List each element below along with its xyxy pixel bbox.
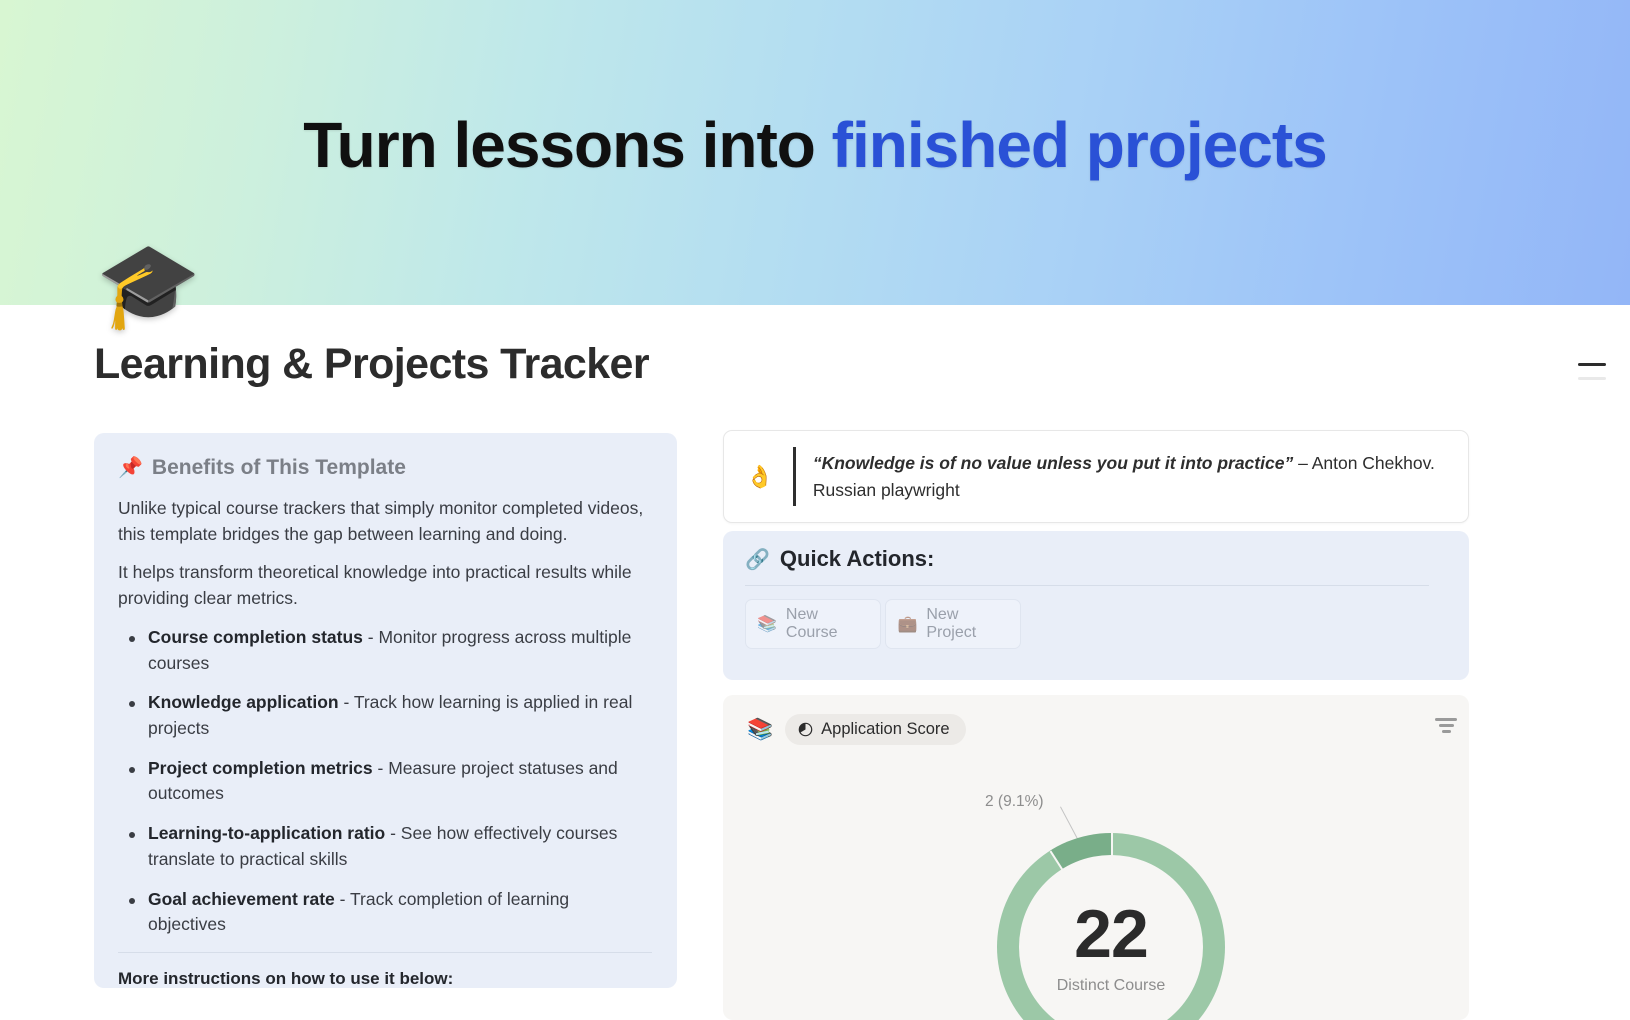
pie-chart-icon [798,722,813,737]
donut-slice-label: 2 (9.1%) [985,793,1044,811]
quick-actions-card: 🔗 Quick Actions: 📚 New Course 💼 New Proj… [723,531,1469,680]
list-item: Course completion status - Monitor progr… [118,625,640,676]
quick-actions-title: 🔗 Quick Actions: [745,546,1447,585]
list-item-term: Course completion status [148,627,363,647]
donut-center-value: 22 [997,895,1225,973]
list-item-term: Learning-to-application ratio [148,823,385,843]
new-course-button[interactable]: 📚 New Course [745,599,881,649]
divider [118,952,652,953]
graduation-cap-icon[interactable]: 🎓 [96,237,192,333]
tab-application-score[interactable]: Application Score [785,714,965,745]
banner-headline: Turn lessons into finished projects [0,108,1630,182]
filter-icon[interactable] [1435,717,1457,733]
new-course-label: New Course [786,606,866,642]
banner-headline-plain: Turn lessons into [303,109,831,181]
minimize-icon[interactable] [1578,355,1608,377]
minimize-bar-faint [1578,377,1606,380]
new-project-button[interactable]: 💼 New Project [885,599,1021,649]
new-project-label: New Project [926,606,1006,642]
list-item: Goal achievement rate - Track completion… [118,887,640,938]
quote-bar [793,447,795,506]
list-item: Project completion metrics - Measure pro… [118,756,640,807]
list-item: Learning-to-application ratio - See how … [118,821,640,872]
quote-body: “Knowledge is of no value unless you put… [813,453,1293,473]
more-instructions-label: More instructions on how to use it below… [118,969,653,988]
filter-bar [1435,718,1457,721]
books-icon: 📚 [757,614,777,634]
benefits-paragraph: Unlike typical course trackers that simp… [118,496,648,547]
link-icon: 🔗 [745,547,770,572]
briefcase-icon: 💼 [897,614,917,634]
quote-callout: 👌 “Knowledge is of no value unless you p… [723,430,1469,523]
donut-center-label: Distinct Course [997,977,1225,995]
benefits-title: 📌 Benefits of This Template [118,455,653,480]
benefits-list: Course completion status - Monitor progr… [118,625,653,938]
chart-header: 📚 Application Score [723,695,1469,745]
banner-headline-accent: finished projects [832,109,1327,181]
list-item: Knowledge application - Track how learni… [118,690,640,741]
application-score-card: 📚 Application Score 2 (9.1%) 22 [723,695,1469,1020]
tab-label: Application Score [821,720,949,739]
books-icon: 📚 [747,718,773,742]
ok-hand-icon: 👌 [746,464,773,490]
benefits-card: 📌 Benefits of This Template Unlike typic… [94,433,677,988]
filter-bar [1439,724,1454,727]
page-root: Turn lessons into finished projects 🎓 Le… [0,0,1630,1020]
benefits-title-text: Benefits of This Template [152,456,406,480]
list-item-term: Knowledge application [148,692,339,712]
donut-chart: 2 (9.1%) 22 Distinct Course [723,755,1469,1020]
quote-text: “Knowledge is of no value unless you put… [813,450,1446,503]
benefits-paragraph: It helps transform theoretical knowledge… [118,560,648,611]
page-title: Learning & Projects Tracker [94,340,649,389]
cover-banner: Turn lessons into finished projects [0,0,1630,305]
filter-bar [1442,730,1451,733]
minimize-bar [1578,363,1606,366]
pushpin-icon: 📌 [118,455,143,480]
donut-seam [1049,851,1064,872]
list-item-term: Project completion metrics [148,758,373,778]
divider [745,585,1429,586]
list-item-term: Goal achievement rate [148,889,335,909]
donut-seam [1111,833,1113,857]
quick-actions-title-text: Quick Actions: [780,546,934,572]
